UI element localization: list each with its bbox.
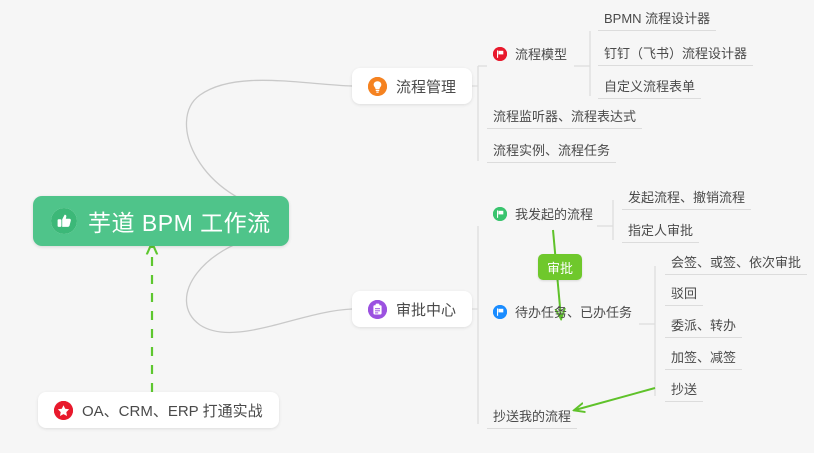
- sub-branch-label-instance-task: 流程实例、流程任务: [493, 143, 610, 159]
- approval-chip[interactable]: 审批: [538, 254, 582, 280]
- leaf-multi-sign[interactable]: 会签、或签、依次审批: [665, 250, 807, 275]
- star-icon: [54, 401, 73, 420]
- thumbs-up-icon: [51, 208, 77, 234]
- approval-chip-label: 审批: [547, 258, 573, 277]
- leaf-label-multi-sign: 会签、或签、依次审批: [671, 255, 801, 271]
- leaf-reject[interactable]: 驳回: [665, 281, 703, 306]
- leaf-add-remove-sign[interactable]: 加签、减签: [665, 345, 742, 370]
- lightbulb-icon: [368, 77, 387, 96]
- leaf-label-bpmn-designer: BPMN 流程设计器: [604, 11, 710, 27]
- leaf-label-custom-process-form: 自定义流程表单: [604, 79, 695, 95]
- sub-branch-label-process-model: 流程模型: [515, 47, 567, 63]
- branch-node-approval-center[interactable]: 审批中心: [352, 291, 472, 327]
- leaf-dingtalk-feishu-designer[interactable]: 钉钉（飞书）流程设计器: [598, 41, 753, 66]
- sub-branch-todo-done-tasks[interactable]: 待办任务、已办任务: [487, 299, 638, 324]
- flag-icon-red: [493, 47, 507, 61]
- leaf-custom-process-form[interactable]: 自定义流程表单: [598, 74, 701, 99]
- sub-branch-listener-expression[interactable]: 流程监听器、流程表达式: [487, 104, 642, 129]
- branch-label-approval-center: 审批中心: [396, 299, 456, 320]
- branch-node-process-management[interactable]: 流程管理: [352, 68, 472, 104]
- leaf-label-assignee-approval: 指定人审批: [628, 223, 693, 239]
- cc-flow-arrow: [575, 388, 655, 410]
- integration-note-label: OA、CRM、ERP 打通实战: [82, 400, 263, 421]
- sub-branch-instance-task[interactable]: 流程实例、流程任务: [487, 138, 616, 163]
- sub-branch-process-model[interactable]: 流程模型: [487, 41, 573, 66]
- leaf-bpmn-designer[interactable]: BPMN 流程设计器: [598, 6, 716, 31]
- leaf-label-start-cancel-process: 发起流程、撤销流程: [628, 190, 745, 206]
- root-node[interactable]: 芋道 BPM 工作流: [33, 196, 289, 246]
- flag-icon-green: [493, 207, 507, 221]
- sub-branch-label-todo-done-tasks: 待办任务、已办任务: [515, 305, 632, 321]
- mindmap-canvas: 芋道 BPM 工作流 流程管理 流程模型 BPMN 流程设计器 钉钉（飞书: [0, 0, 814, 453]
- leaf-label-cc: 抄送: [671, 382, 697, 398]
- leaf-assignee-approval[interactable]: 指定人审批: [622, 218, 699, 243]
- clipboard-icon: [368, 300, 387, 319]
- leaf-label-dingtalk-feishu-designer: 钉钉（飞书）流程设计器: [604, 46, 747, 62]
- flag-icon-blue: [493, 305, 507, 319]
- leaf-label-add-remove-sign: 加签、减签: [671, 350, 736, 366]
- sub-branch-label-my-initiated: 我发起的流程: [515, 207, 593, 223]
- sub-branch-my-initiated[interactable]: 我发起的流程: [487, 201, 599, 226]
- leaf-start-cancel-process[interactable]: 发起流程、撤销流程: [622, 185, 751, 210]
- leaf-delegate-transfer[interactable]: 委派、转办: [665, 313, 742, 338]
- sub-branch-label-cc-to-me: 抄送我的流程: [493, 409, 571, 425]
- leaf-label-reject: 驳回: [671, 286, 697, 302]
- leaf-label-delegate-transfer: 委派、转办: [671, 318, 736, 334]
- integration-note-node[interactable]: OA、CRM、ERP 打通实战: [38, 392, 279, 428]
- sub-branch-label-listener-expression: 流程监听器、流程表达式: [493, 109, 636, 125]
- leaf-cc[interactable]: 抄送: [665, 377, 703, 402]
- branch-label-process-management: 流程管理: [396, 76, 456, 97]
- root-label: 芋道 BPM 工作流: [88, 204, 271, 238]
- sub-branch-cc-to-me[interactable]: 抄送我的流程: [487, 404, 577, 429]
